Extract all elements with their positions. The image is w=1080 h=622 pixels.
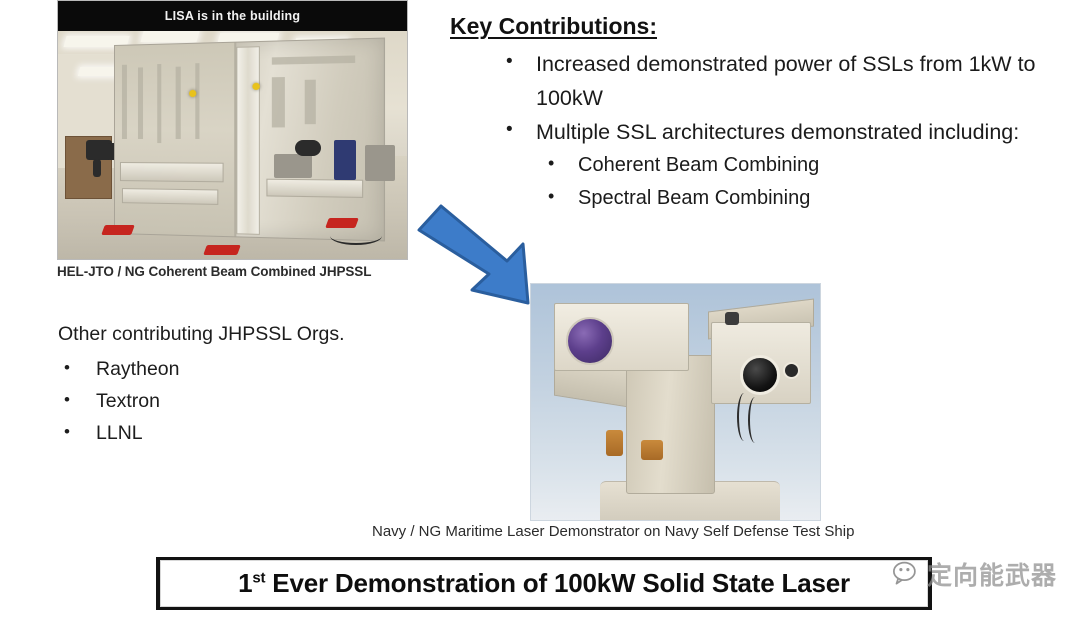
list-item: Spectral Beam Combining [536, 182, 1052, 215]
blue-rack [334, 140, 356, 180]
wechat-icon [893, 560, 921, 588]
laser-enclosure [114, 37, 385, 241]
blue-arrow-icon [415, 198, 539, 310]
other-orgs-list: Raytheon Textron LLNL [58, 353, 179, 449]
list-item-text: Increased demonstrated power of SSLs fro… [536, 52, 1036, 110]
sensor-lens-small [783, 362, 800, 379]
list-item: Textron [58, 385, 179, 417]
photo-maritime-caption: Navy / NG Maritime Laser Demonstrator on… [372, 523, 1012, 540]
list-item-text: Multiple SSL architectures demonstrated … [536, 120, 1019, 144]
red-floor-pad [203, 245, 241, 255]
photo-maritime-laser [530, 283, 821, 521]
equipment-cart [274, 154, 312, 178]
photo-lisa-caption: HEL-JTO / NG Coherent Beam Combined JHPS… [57, 264, 417, 279]
copper-fitting [641, 440, 663, 460]
headline-banner-inner: 1st Ever Demonstration of 100kW Solid St… [160, 560, 928, 607]
banner-superscript: st [252, 569, 265, 586]
headline-banner: 1st Ever Demonstration of 100kW Solid St… [156, 557, 932, 610]
headline-banner-text: 1st Ever Demonstration of 100kW Solid St… [238, 568, 850, 599]
list-item: Coherent Beam Combining [536, 149, 1052, 182]
enclosure-door [236, 46, 260, 235]
turret-body [626, 355, 715, 494]
wechat-watermark: 定向能武器 [893, 556, 1057, 592]
blue-arrow [415, 198, 539, 310]
other-orgs-heading: Other contributing JHPSSL Orgs. [58, 323, 344, 346]
laser-aperture [566, 317, 614, 365]
photo-lisa-scene [58, 31, 407, 259]
sensor-knob [725, 312, 739, 325]
key-contributions-heading: Key Contributions: [450, 13, 657, 40]
enclosure-left-face [115, 42, 236, 236]
equipment-cart [365, 145, 395, 181]
slide-canvas: LISA is in the building HEL-JTO / NG Coh… [0, 0, 1080, 622]
list-item: Multiple SSL architectures demonstrated … [492, 115, 1052, 215]
photo-title-text: LISA is in the building [165, 9, 300, 23]
photo-title-bar: LISA is in the building [58, 1, 407, 31]
banner-prefix: 1 [238, 568, 252, 598]
key-contributions-sublist: Coherent Beam Combining Spectral Beam Co… [536, 149, 1052, 215]
office-chair-stem [93, 159, 101, 177]
copper-fitting [606, 430, 623, 456]
list-item: Raytheon [58, 353, 179, 385]
red-floor-pad [102, 225, 136, 235]
list-item: Increased demonstrated power of SSLs fro… [492, 47, 1052, 115]
watermark-text: 定向能武器 [927, 556, 1057, 592]
sensor-lens [740, 355, 780, 395]
list-item: LLNL [58, 417, 179, 449]
key-contributions-list: Increased demonstrated power of SSLs fro… [492, 47, 1052, 215]
ceiling-light [140, 31, 199, 42]
banner-rest: Ever Demonstration of 100kW Solid State … [265, 568, 850, 598]
photo-lisa-cleanroom: LISA is in the building [57, 0, 408, 260]
dark-equipment [295, 140, 321, 156]
